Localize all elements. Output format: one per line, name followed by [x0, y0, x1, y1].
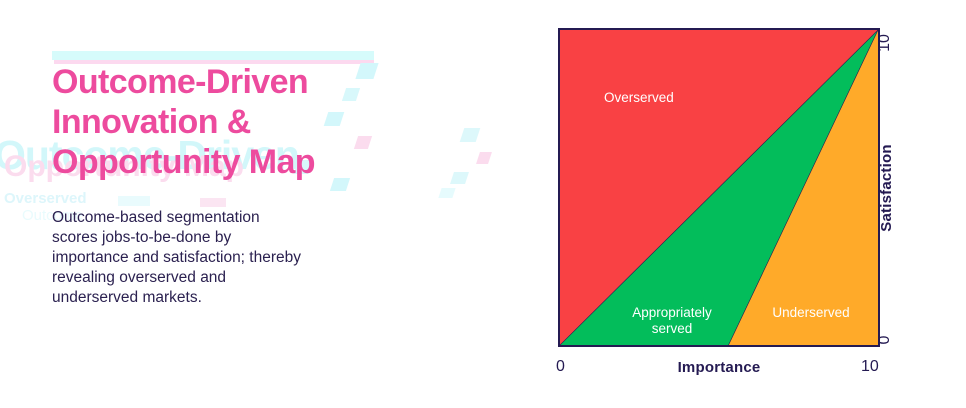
y-axis-title: Satisfaction	[878, 128, 895, 248]
ghost-artifact-bar-cyan	[52, 51, 374, 60]
ghost-artifact-block	[476, 152, 492, 164]
ghost-artifact-block	[450, 172, 469, 184]
x-axis-title: Importance	[558, 359, 880, 376]
ghost-artifact-block	[460, 128, 481, 142]
page-title-line-3: Opportunity Map	[52, 143, 315, 181]
ghost-artifact-block	[438, 188, 455, 198]
page-title-line-2: Innovation &	[52, 103, 251, 141]
ghost-artifact-block	[118, 196, 150, 206]
page-title: Outcome-Driven Innovation & Opportunity …	[52, 62, 382, 182]
slide-canvas: Outcome-Driven Opportunity Map Overserve…	[0, 0, 966, 408]
x-axis-tick-min: 0	[556, 358, 565, 376]
text-panel: Outcome-Driven Opportunity Map Overserve…	[0, 0, 520, 408]
page-description: Outcome-based segmentation scores jobs-t…	[52, 208, 302, 308]
opportunity-map-chart: Overserved Appropriately served Underser…	[558, 28, 880, 347]
page-title-line-1: Outcome-Driven	[52, 63, 308, 101]
y-axis-tick-max: 10	[876, 13, 894, 73]
y-axis-tick-min: 0	[876, 310, 894, 370]
chart-regions-svg	[560, 30, 878, 345]
ghost-artifact-block	[200, 198, 226, 207]
ghost-artifact-overserved: Overserved	[4, 190, 87, 207]
